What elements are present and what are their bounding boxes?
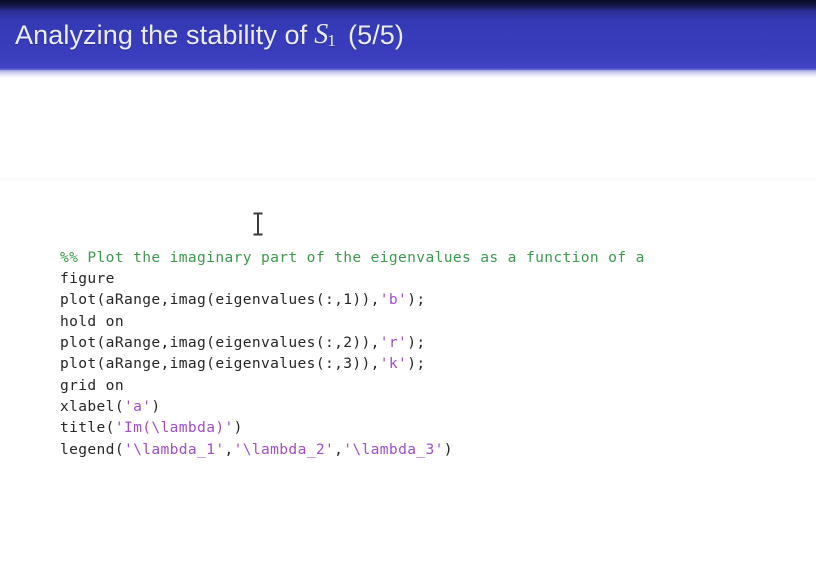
code-line[interactable]: plot(aRange,imag(eigenvalues(:,3)),'k'); — [60, 353, 816, 374]
code-token-plain: ) — [444, 441, 453, 458]
code-line[interactable]: title('Im(\lambda)') — [60, 417, 816, 438]
code-token-plain: , — [224, 441, 233, 458]
code-token-string: 'Im(\lambda)' — [115, 419, 234, 436]
code-token-plain: xlabel( — [60, 398, 124, 415]
code-token-plain: plot(aRange,imag(eigenvalues(:,1)), — [60, 291, 380, 308]
code-token-plain: grid on — [60, 377, 124, 394]
slide-title-bar: Analyzing the stability ofS1(5/5) — [0, 0, 816, 70]
code-token-plain: plot(aRange,imag(eigenvalues(:,2)), — [60, 334, 380, 351]
code-token-plain: , — [334, 441, 343, 458]
code-line[interactable]: xlabel('a') — [60, 396, 816, 417]
code-token-string: 'r' — [380, 334, 407, 351]
code-line[interactable]: %% Plot the imaginary part of the eigenv… — [60, 247, 816, 268]
title-bar-underfade — [0, 70, 816, 78]
code-token-string: '\lambda_1' — [124, 441, 225, 458]
code-token-plain: legend( — [60, 441, 124, 458]
slide-canvas: Analyzing the stability ofS1(5/5) %% Plo… — [0, 0, 816, 578]
code-block[interactable]: %% Plot the imaginary part of the eigenv… — [0, 178, 816, 502]
code-block-top-band — [0, 178, 816, 182]
page-title-symbol-subscript: 1 — [327, 31, 336, 51]
code-token-plain: plot(aRange,imag(eigenvalues(:,3)), — [60, 355, 380, 372]
code-token-string: '\lambda_3' — [343, 441, 444, 458]
code-token-plain: ); — [407, 291, 425, 308]
code-token-string: 'b' — [380, 291, 407, 308]
page-title: Analyzing the stability ofS1(5/5) — [15, 0, 404, 70]
code-token-plain: ) — [234, 419, 243, 436]
code-line[interactable]: plot(aRange,imag(eigenvalues(:,2)),'r'); — [60, 332, 816, 353]
code-token-plain: ); — [407, 355, 425, 372]
code-line[interactable]: hold on — [60, 311, 816, 332]
page-title-prefix: Analyzing the stability of — [15, 20, 307, 51]
code-token-plain: ) — [151, 398, 160, 415]
code-token-string: '\lambda_2' — [234, 441, 335, 458]
code-line[interactable]: legend('\lambda_1','\lambda_2','\lambda_… — [60, 439, 816, 460]
code-line[interactable]: plot(aRange,imag(eigenvalues(:,1)),'b'); — [60, 289, 816, 310]
page-title-symbol: S — [307, 19, 328, 51]
code-token-plain: ); — [407, 334, 425, 351]
page-title-counter: (5/5) — [337, 20, 404, 51]
code-line[interactable]: figure — [60, 268, 816, 289]
code-token-plain: figure — [60, 270, 115, 287]
code-line[interactable]: grid on — [60, 375, 816, 396]
code-token-comment: %% Plot the imaginary part of the eigenv… — [60, 249, 645, 266]
code-token-plain: hold on — [60, 313, 124, 330]
code-token-plain: title( — [60, 419, 115, 436]
code-token-string: 'k' — [380, 355, 407, 372]
code-lines[interactable]: %% Plot the imaginary part of the eigenv… — [0, 242, 816, 460]
code-token-string: 'a' — [124, 398, 151, 415]
